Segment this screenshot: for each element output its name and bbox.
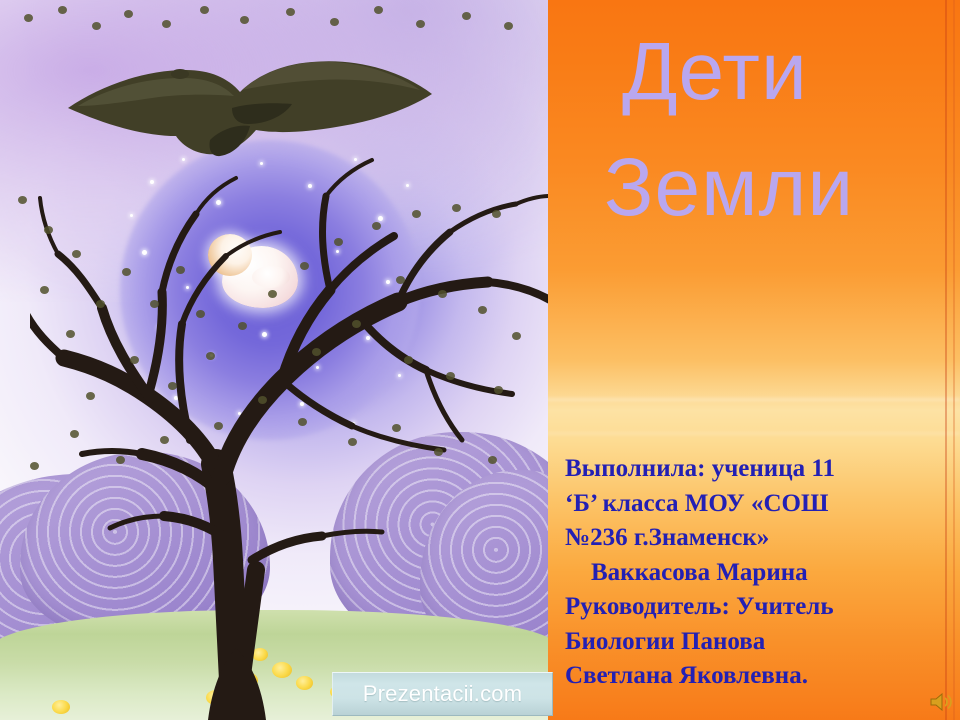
cover-illustration (0, 0, 548, 720)
credits-line: №236 г.Знаменск» (565, 521, 957, 556)
credits-block: Выполнила: ученица 11 ‘Б’ класса МОУ «СО… (565, 452, 957, 694)
credits-line: Руководитель: Учитель (565, 590, 957, 625)
bare-tree-icon (30, 40, 548, 720)
watermark-label: Prezentacii.com (363, 681, 523, 707)
credits-line: Светлана Яковлевна. (565, 659, 957, 694)
presentation-slide: Дети Земли Выполнила: ученица 11 ‘Б’ кла… (0, 0, 960, 720)
title-line-1: Дети (560, 14, 952, 130)
page-title: Дети Земли (560, 14, 952, 246)
watermark-badge[interactable]: Prezentacii.com (332, 672, 553, 716)
credits-line: Ваккасова Марина (565, 556, 957, 591)
credits-line: ‘Б’ класса МОУ «СОШ (565, 487, 957, 522)
title-line-2: Земли (560, 130, 952, 246)
speaker-icon[interactable] (928, 690, 954, 714)
credits-line: Биологии Панова (565, 625, 957, 660)
credits-line: Выполнила: ученица 11 (565, 452, 957, 487)
